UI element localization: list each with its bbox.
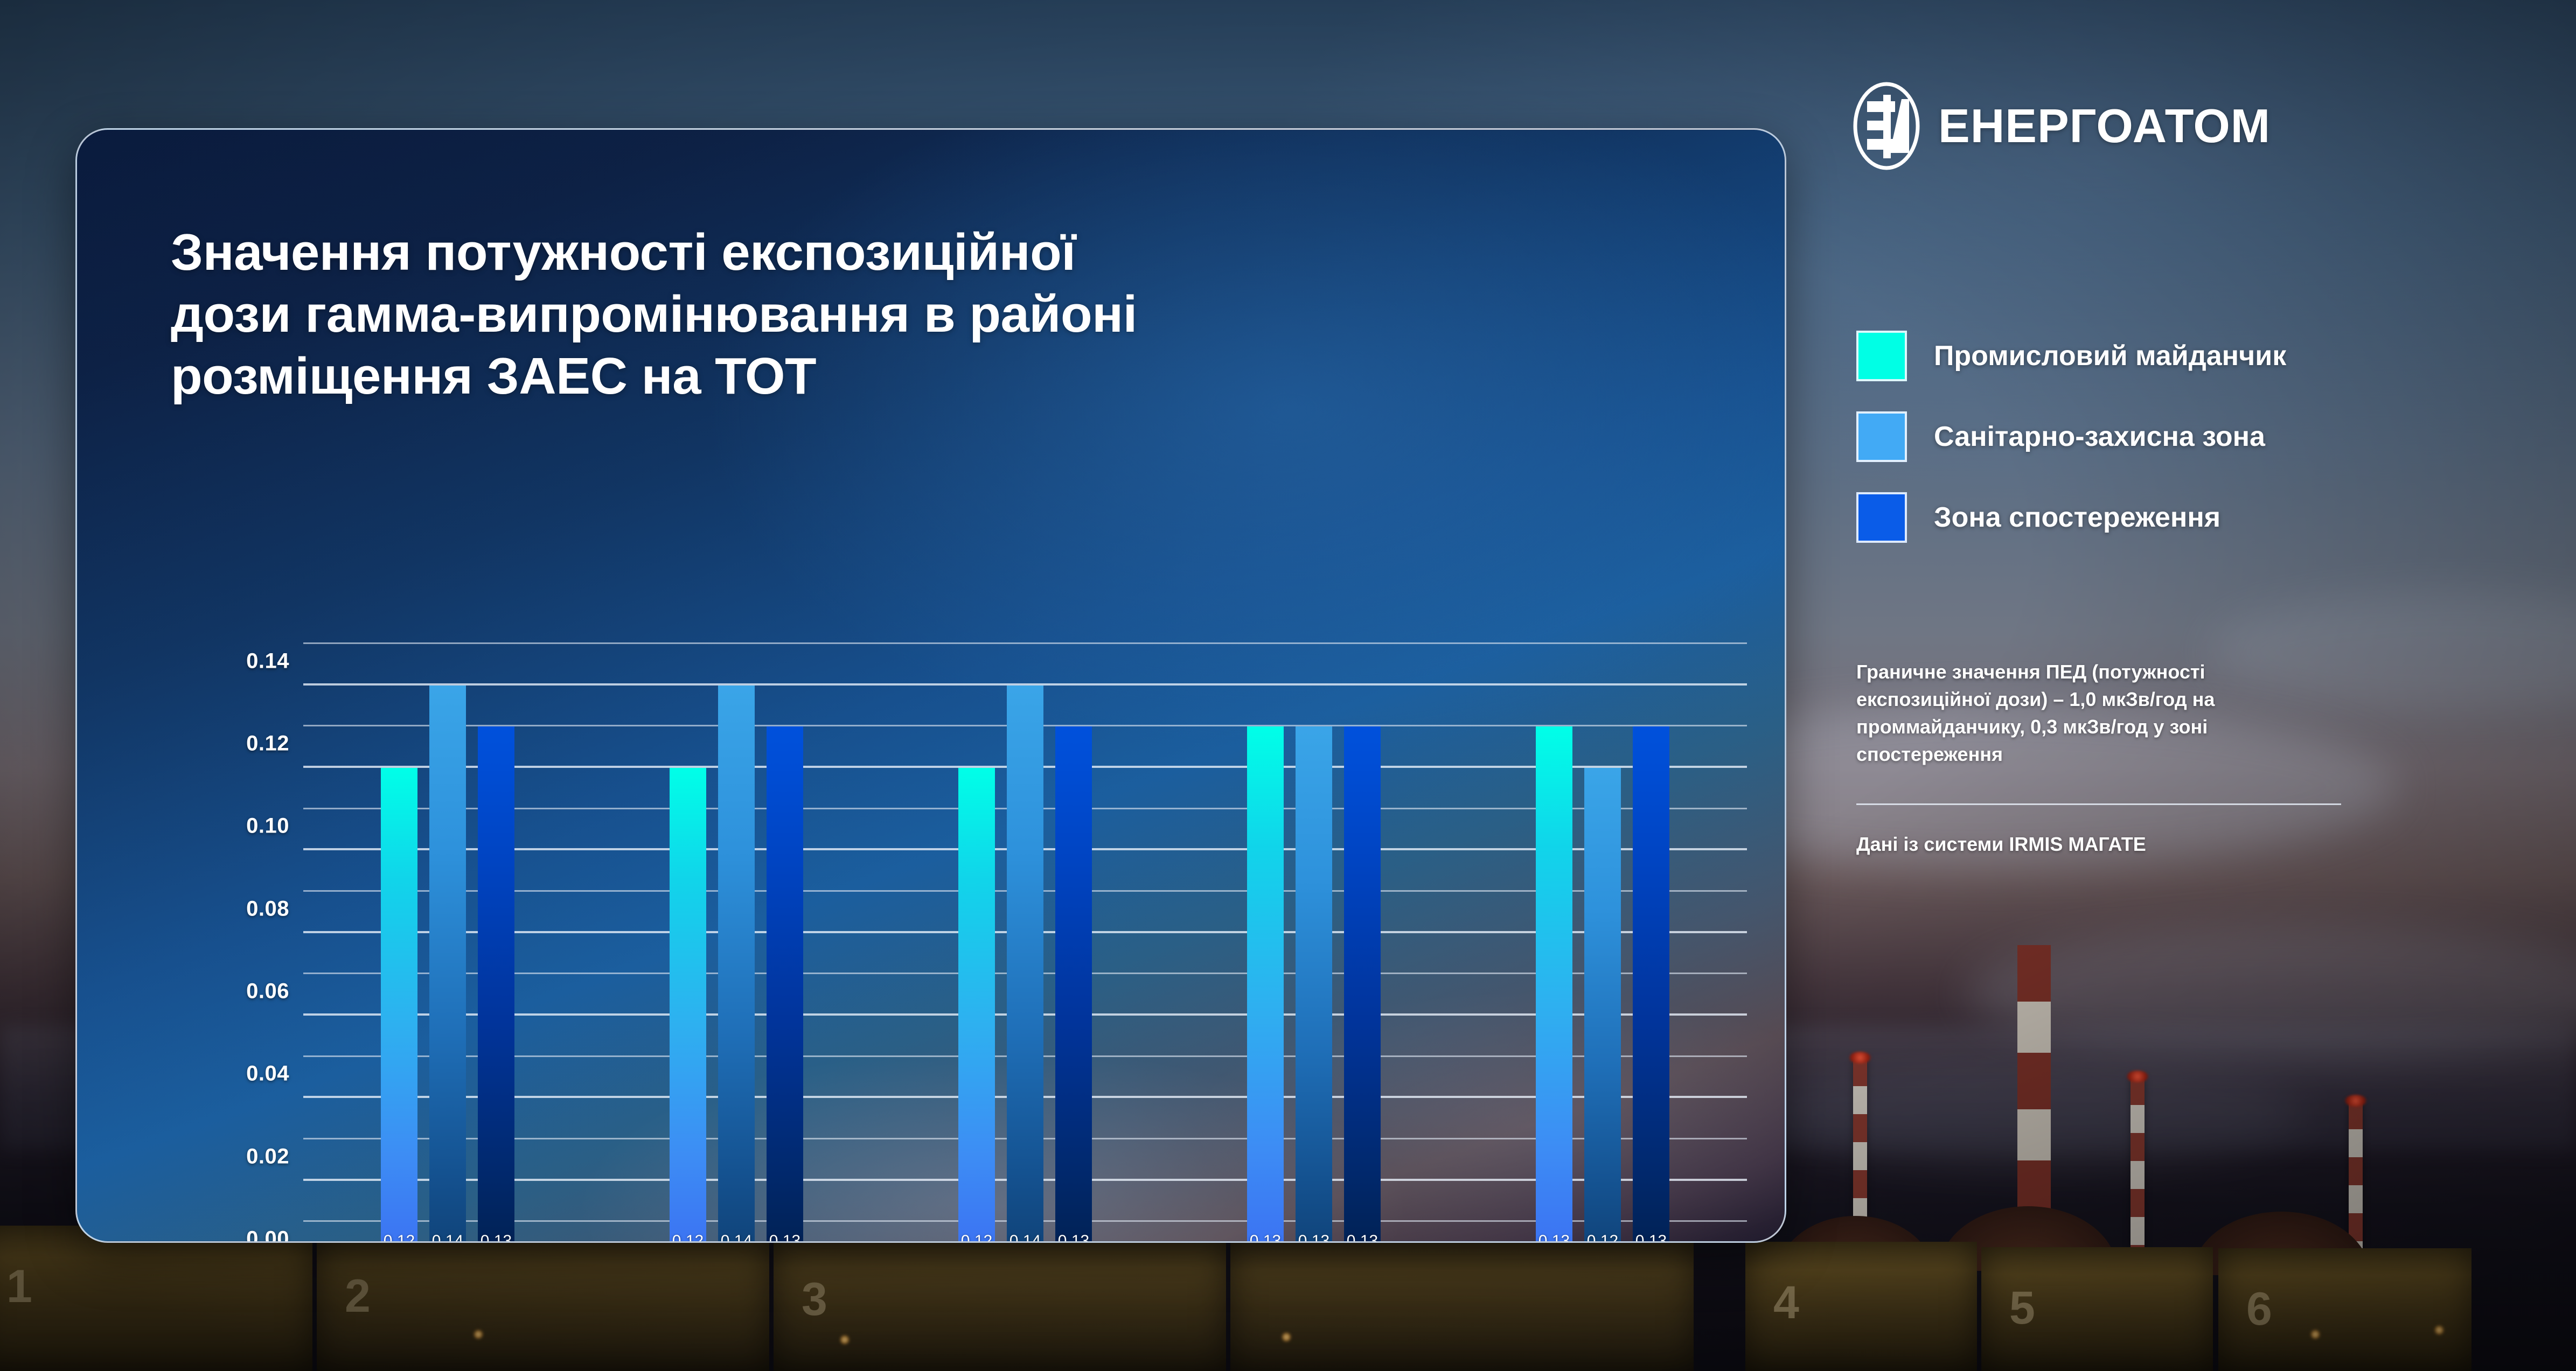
bar-07-01-series-2[interactable]: 0.14 (1007, 685, 1043, 1243)
y-axis-tick-label: 0.12 (246, 732, 289, 756)
chart-bars: 0.120.140.130.120.140.130.120.140.130.13… (303, 644, 1747, 1243)
reactor-building-3: 3 (774, 1239, 1226, 1371)
bar-group: 0.120.140.13 (303, 644, 592, 1243)
note-data-source: Дані із системи IRMIS МАГАТЕ (1856, 833, 2336, 856)
legend-swatch-icon (1856, 492, 1907, 543)
reactor-building-6: 6 (2218, 1248, 2471, 1371)
site-light (2435, 1326, 2443, 1334)
chart-card: Значення потужності експозиційної дози г… (75, 128, 1786, 1243)
legend-item-3[interactable]: Зона спостереження (1856, 485, 2503, 550)
bar-07-01-series-1[interactable]: 0.12 (958, 768, 995, 1243)
bar-group-inner: 0.130.130.13 (1247, 644, 1381, 1243)
reactor-building-aux (1230, 1242, 1694, 1371)
legend-item-1[interactable]: Промисловий майданчик (1856, 323, 2503, 389)
bar-group-inner: 0.120.140.13 (958, 644, 1092, 1243)
energoatom-ellipse-ea-icon (1853, 82, 1920, 170)
bar-07-01-series-3[interactable]: 0.13 (1055, 726, 1092, 1243)
bar-06-01-series-3[interactable]: 0.13 (767, 726, 803, 1243)
y-axis-tick-label: 0.04 (246, 1062, 289, 1086)
bar-value-label: 0.12 (961, 1232, 992, 1243)
bar-value-label: 0.13 (1635, 1232, 1667, 1243)
bar-value-label: 0.13 (1250, 1232, 1281, 1243)
site-light (2311, 1330, 2320, 1339)
legend-label: Санітарно-захисна зона (1934, 421, 2265, 453)
bar-05-01-series-1[interactable]: 0.12 (381, 768, 417, 1243)
bar-08-01-series-2[interactable]: 0.13 (1296, 726, 1332, 1243)
legend-swatch-icon (1856, 331, 1907, 381)
legend-swatch-icon (1856, 411, 1907, 462)
y-axis-tick-label: 0.10 (246, 814, 289, 838)
bar-value-label: 0.14 (432, 1232, 463, 1243)
bar-value-label: 0.13 (1058, 1232, 1089, 1243)
y-axis-tick-label: 0.14 (246, 649, 289, 673)
bar-06-01-series-2[interactable]: 0.14 (718, 685, 755, 1243)
bar-06-01-series-1[interactable]: 0.12 (670, 768, 706, 1243)
bar-group: 0.130.130.13 (1169, 644, 1458, 1243)
y-axis-tick-label: 0.02 (246, 1144, 289, 1169)
bar-05-01-series-3[interactable]: 0.13 (478, 726, 514, 1243)
bar-value-label: 0.12 (1587, 1232, 1618, 1243)
bar-value-label: 0.13 (1538, 1232, 1570, 1243)
bar-value-label: 0.13 (1347, 1232, 1378, 1243)
bar-05-01-series-2[interactable]: 0.14 (429, 685, 466, 1243)
bar-group: 0.120.140.13 (881, 644, 1169, 1243)
site-light (1282, 1333, 1291, 1341)
bar-value-label: 0.13 (769, 1232, 800, 1243)
page-title: Значення потужності експозиційної дози г… (171, 221, 1464, 408)
legend-item-2[interactable]: Санітарно-захисна зона (1856, 404, 2503, 470)
bar-08-01-series-1[interactable]: 0.13 (1247, 726, 1284, 1243)
reactor-building-2: 2 (317, 1235, 769, 1371)
reactor-building-5: 5 (1981, 1247, 2213, 1371)
bar-group-inner: 0.120.140.13 (670, 644, 803, 1243)
bar-group: 0.120.140.13 (592, 644, 881, 1243)
bar-group-inner: 0.130.120.13 (1536, 644, 1669, 1243)
bar-group: 0.130.120.13 (1458, 644, 1747, 1243)
bar-value-label: 0.13 (1298, 1232, 1329, 1243)
chart-plot-area: 0.000.020.040.060.080.100.120.14 0.120.1… (303, 644, 1747, 1243)
bar-value-label: 0.12 (672, 1232, 704, 1243)
bar-group-inner: 0.120.140.13 (381, 644, 514, 1243)
bar-value-label: 0.12 (384, 1232, 415, 1243)
brand-logo: ЕНЕРГОАТОМ (1853, 82, 2271, 170)
bar-value-label: 0.13 (481, 1232, 512, 1243)
bar-08-01-series-3[interactable]: 0.13 (1344, 726, 1381, 1243)
bar-09-01-series-2[interactable]: 0.12 (1584, 768, 1621, 1243)
brand-name: ЕНЕРГОАТОМ (1938, 102, 2271, 150)
y-axis-tick-label: 0.08 (246, 897, 289, 921)
y-axis-tick-label: 0.00 (246, 1227, 289, 1243)
reactor-building-4: 4 (1745, 1242, 1977, 1371)
site-light (474, 1330, 483, 1339)
bar-09-01-series-1[interactable]: 0.13 (1536, 726, 1572, 1243)
reactor-building-1: 1 (0, 1226, 312, 1371)
bar-value-label: 0.14 (721, 1232, 752, 1243)
legend-label: Промисловий майданчик (1934, 340, 2286, 372)
chart-legend: Промисловий майданчикСанітарно-захисна з… (1856, 323, 2503, 565)
note-dose-limit: Граничне значення ПЕД (потужності експоз… (1856, 658, 2336, 768)
bar-value-label: 0.14 (1009, 1232, 1041, 1243)
legend-label: Зона спостереження (1934, 501, 2220, 534)
bar-09-01-series-3[interactable]: 0.13 (1633, 726, 1669, 1243)
notes-divider (1856, 803, 2341, 805)
notes-block: Граничне значення ПЕД (потужності експоз… (1856, 658, 2336, 856)
infographic-stage: 4 5 6 1 2 3 Значення потужності експозиц… (0, 0, 2576, 1371)
site-light (840, 1335, 849, 1344)
y-axis-tick-label: 0.06 (246, 980, 289, 1004)
